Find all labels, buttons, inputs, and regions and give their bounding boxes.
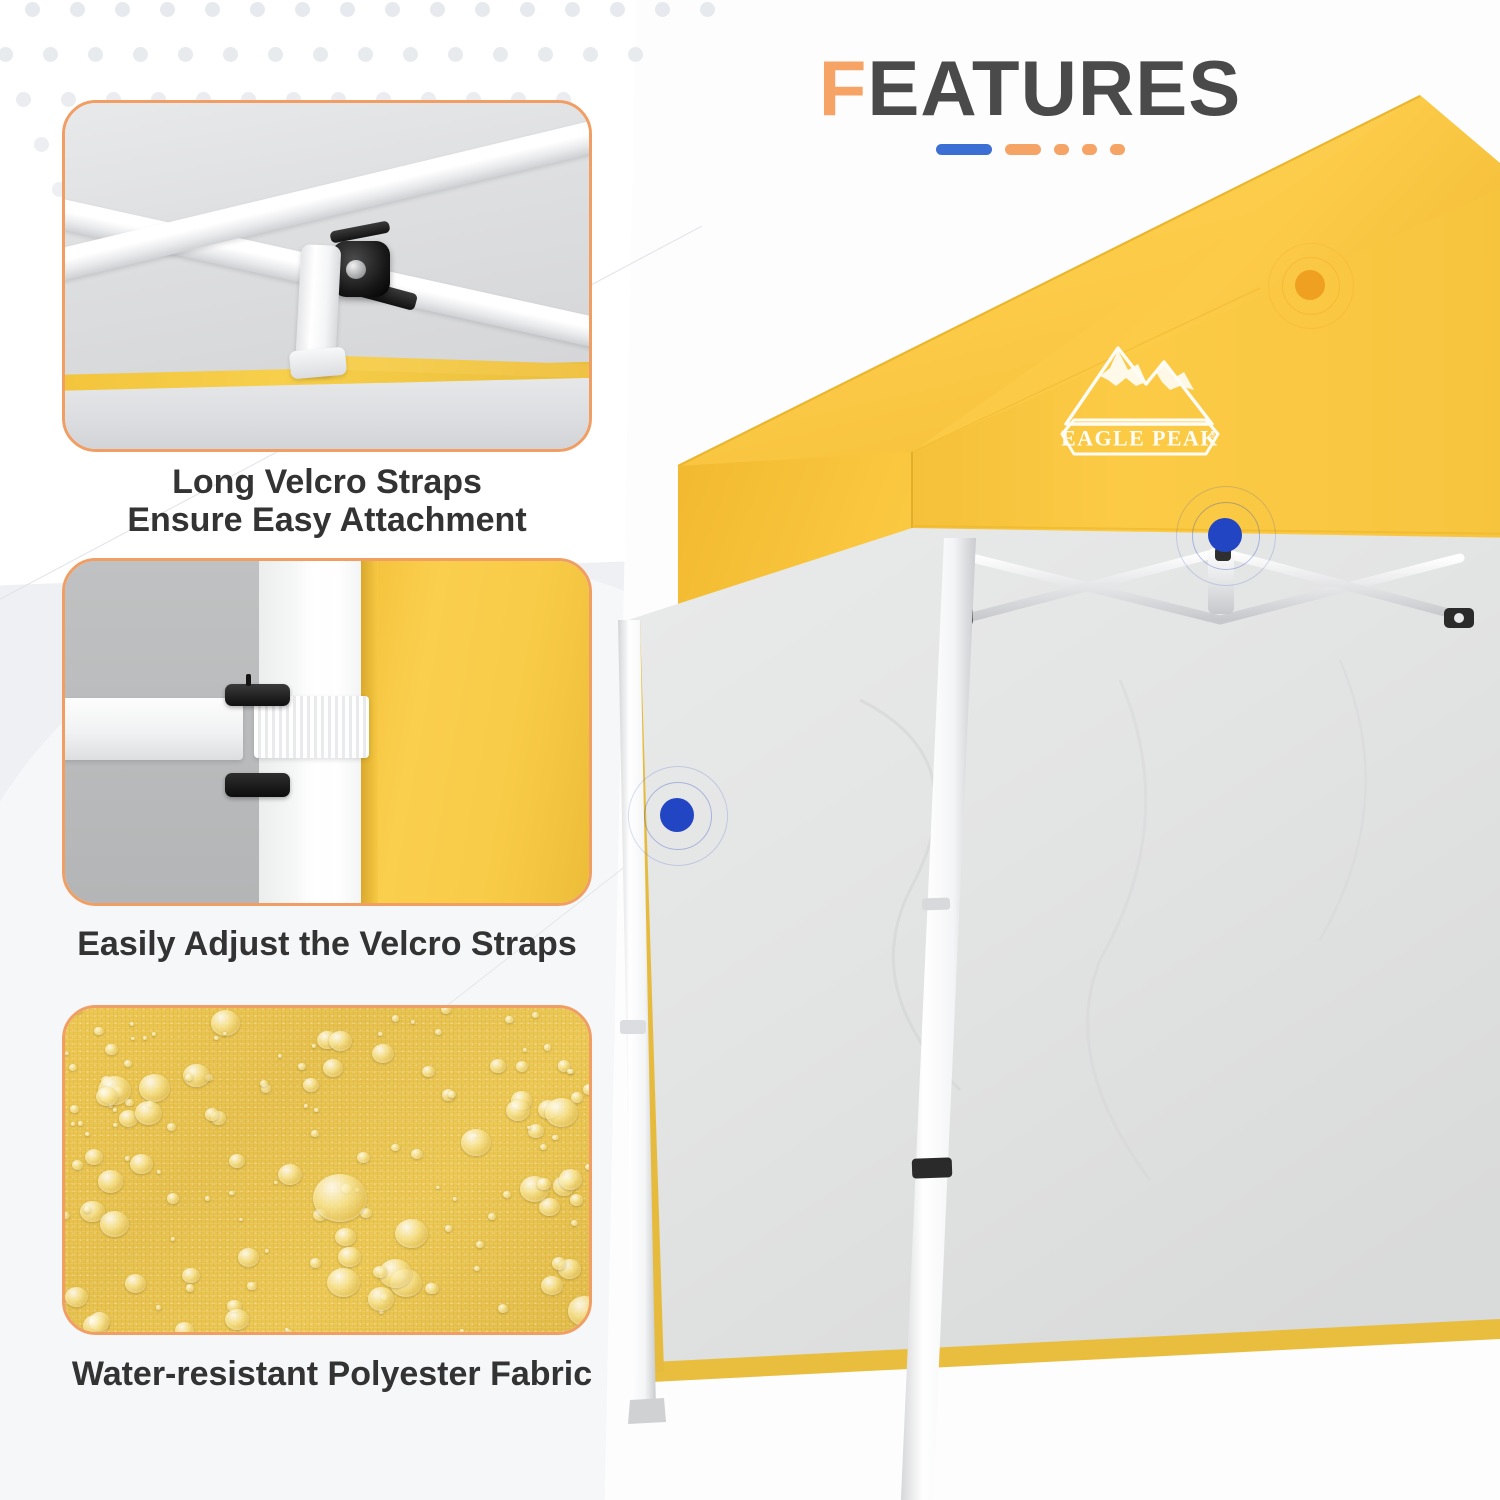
dot-grid-dot	[115, 2, 130, 17]
water-droplet	[130, 1154, 153, 1174]
dot-grid-dot	[34, 137, 49, 152]
dot-grid-dot	[16, 92, 31, 107]
water-droplet	[167, 1123, 176, 1131]
dot-grid-dot	[88, 47, 103, 62]
dot-grid-dot	[403, 47, 418, 62]
feature-card-velcro-straps	[62, 100, 592, 452]
feature-caption-velcro-straps: Long Velcro Straps Ensure Easy Attachmen…	[62, 463, 592, 539]
dot-grid-dot	[295, 2, 310, 17]
dot-grid-row	[0, 2, 715, 18]
water-droplet	[65, 1287, 88, 1307]
water-droplet	[411, 1149, 423, 1159]
water-droplet	[185, 1074, 193, 1081]
water-droplet	[425, 1283, 438, 1295]
water-droplet	[368, 1287, 394, 1310]
water-droplet	[247, 1282, 257, 1291]
water-droplet	[303, 1078, 319, 1092]
water-droplet	[445, 1225, 452, 1231]
water-droplet	[71, 1122, 75, 1126]
water-droplet	[544, 1044, 552, 1051]
water-droplet	[70, 1105, 79, 1113]
water-droplet	[72, 1160, 83, 1169]
water-droplet	[278, 1054, 282, 1058]
water-droplet	[503, 1191, 511, 1198]
feature-card-water-resistant	[62, 1005, 592, 1335]
dot-grid-dot	[313, 47, 328, 62]
strap-buckle-bottom	[225, 773, 291, 797]
water-droplet	[314, 1108, 318, 1112]
dot-grid-dot	[655, 2, 670, 17]
dot-grid-dot	[133, 47, 148, 62]
dot-grid-dot	[43, 47, 58, 62]
water-droplet	[113, 1108, 117, 1112]
yellow-canopy-fabric	[361, 561, 589, 903]
dot-grid-dot	[430, 2, 445, 17]
water-droplet	[422, 1066, 435, 1078]
dot-grid-row	[0, 47, 643, 63]
feature-caption-water-resistant: Water-resistant Polyester Fabric	[52, 1355, 612, 1393]
left-leg-foot	[628, 1398, 666, 1424]
strap-buckle-pin	[246, 674, 251, 686]
water-droplet	[94, 1027, 104, 1036]
water-droplet	[105, 1044, 118, 1055]
water-droplet	[490, 1059, 506, 1073]
dot-grid-dot	[448, 47, 463, 62]
dot-grid-dot	[250, 2, 265, 17]
dot-grid-dot	[493, 47, 508, 62]
water-droplet	[182, 1268, 200, 1284]
dot-grid-dot	[385, 2, 400, 17]
water-droplet	[448, 1091, 456, 1098]
water-droplet	[85, 1132, 90, 1136]
water-droplet	[229, 1191, 234, 1196]
water-droplet	[378, 1032, 383, 1037]
water-droplet	[156, 1305, 161, 1310]
water-droplet	[285, 1328, 289, 1332]
water-droplet	[83, 1315, 107, 1332]
product-canopy-illustration: EAGLE PEAK ®	[560, 60, 1500, 1500]
feature-image-velcro-straps	[65, 103, 589, 449]
water-droplet	[84, 1206, 91, 1212]
water-droplet	[441, 1008, 451, 1014]
water-droplet	[532, 1012, 539, 1018]
sidewall-panel	[628, 528, 1500, 1370]
water-droplet	[304, 1104, 308, 1108]
water-droplet	[453, 1197, 457, 1201]
water-droplet	[329, 1031, 351, 1051]
water-droplet	[135, 1101, 162, 1125]
water-droplet	[278, 1164, 302, 1185]
water-droplet	[265, 1249, 269, 1253]
dot-grid-dot	[178, 47, 193, 62]
left-leg-joint	[620, 1020, 646, 1034]
water-droplet	[238, 1248, 259, 1266]
leg-height-lock	[912, 1157, 953, 1178]
water-droplet	[125, 1156, 130, 1161]
water-droplet	[85, 1149, 103, 1165]
water-droplet	[311, 1130, 319, 1137]
dot-grid-dot	[25, 2, 40, 17]
velcro-strap-end	[289, 346, 347, 379]
canopy-top-marker[interactable]	[1260, 235, 1360, 335]
brand-name-text: EAGLE PEAK	[1061, 426, 1219, 451]
dot-grid-dot	[340, 2, 355, 17]
water-droplet	[98, 1170, 124, 1192]
water-droplet	[125, 1274, 147, 1293]
dot-grid-dot	[205, 2, 220, 17]
water-droplet	[205, 1108, 219, 1121]
water-droplet	[516, 1061, 528, 1072]
water-droplet	[96, 1087, 117, 1106]
dot-grid-dot	[268, 47, 283, 62]
dot-grid-dot	[160, 2, 175, 17]
water-droplet	[100, 1211, 129, 1237]
water-droplet-large	[313, 1174, 367, 1222]
dot-grid-dot	[475, 2, 490, 17]
sidewall-edge-marker[interactable]	[622, 760, 732, 870]
dot-grid-dot	[358, 47, 373, 62]
feature-caption-adjust-straps: Easily Adjust the Velcro Straps	[62, 925, 592, 963]
leg-section-joint	[922, 898, 950, 911]
velcro-strap-left	[65, 698, 243, 760]
water-droplet	[436, 1186, 440, 1190]
strap-buckle-top	[225, 684, 291, 706]
truss-center-marker[interactable]	[1170, 480, 1280, 590]
brand-registered-mark: ®	[1210, 430, 1217, 440]
dot-grid-dot	[223, 47, 238, 62]
water-droplet	[298, 1063, 305, 1070]
dot-grid-dot	[520, 2, 535, 17]
water-droplet	[539, 1198, 560, 1217]
dot-grid-dot	[610, 2, 625, 17]
water-droplet	[78, 1121, 83, 1126]
dot-grid-dot	[0, 47, 13, 62]
water-droplet	[157, 1170, 161, 1174]
water-droplet	[186, 1284, 194, 1291]
dot-grid-dot	[565, 2, 580, 17]
water-droplet	[552, 1135, 559, 1141]
feature-card-adjust-straps	[62, 558, 592, 906]
water-droplet	[506, 1100, 530, 1121]
water-droplet	[310, 1258, 320, 1267]
truss-joint-right-bolt	[1454, 613, 1464, 623]
water-droplet	[229, 1154, 245, 1168]
water-droplet	[460, 1329, 464, 1332]
water-droplet	[312, 1044, 316, 1048]
water-droplet	[214, 1036, 218, 1040]
feature-image-water-resistant	[65, 1008, 589, 1332]
water-droplet	[338, 1247, 361, 1267]
feature-image-adjust-straps	[65, 561, 589, 903]
dot-grid-dot	[70, 2, 85, 17]
dot-grid-dot	[700, 2, 715, 17]
water-droplet	[537, 1178, 550, 1190]
infographic-canvas: FEATURES Long Velcro Straps Ensure Easy …	[0, 0, 1500, 1500]
dot-grid-dot	[538, 47, 553, 62]
